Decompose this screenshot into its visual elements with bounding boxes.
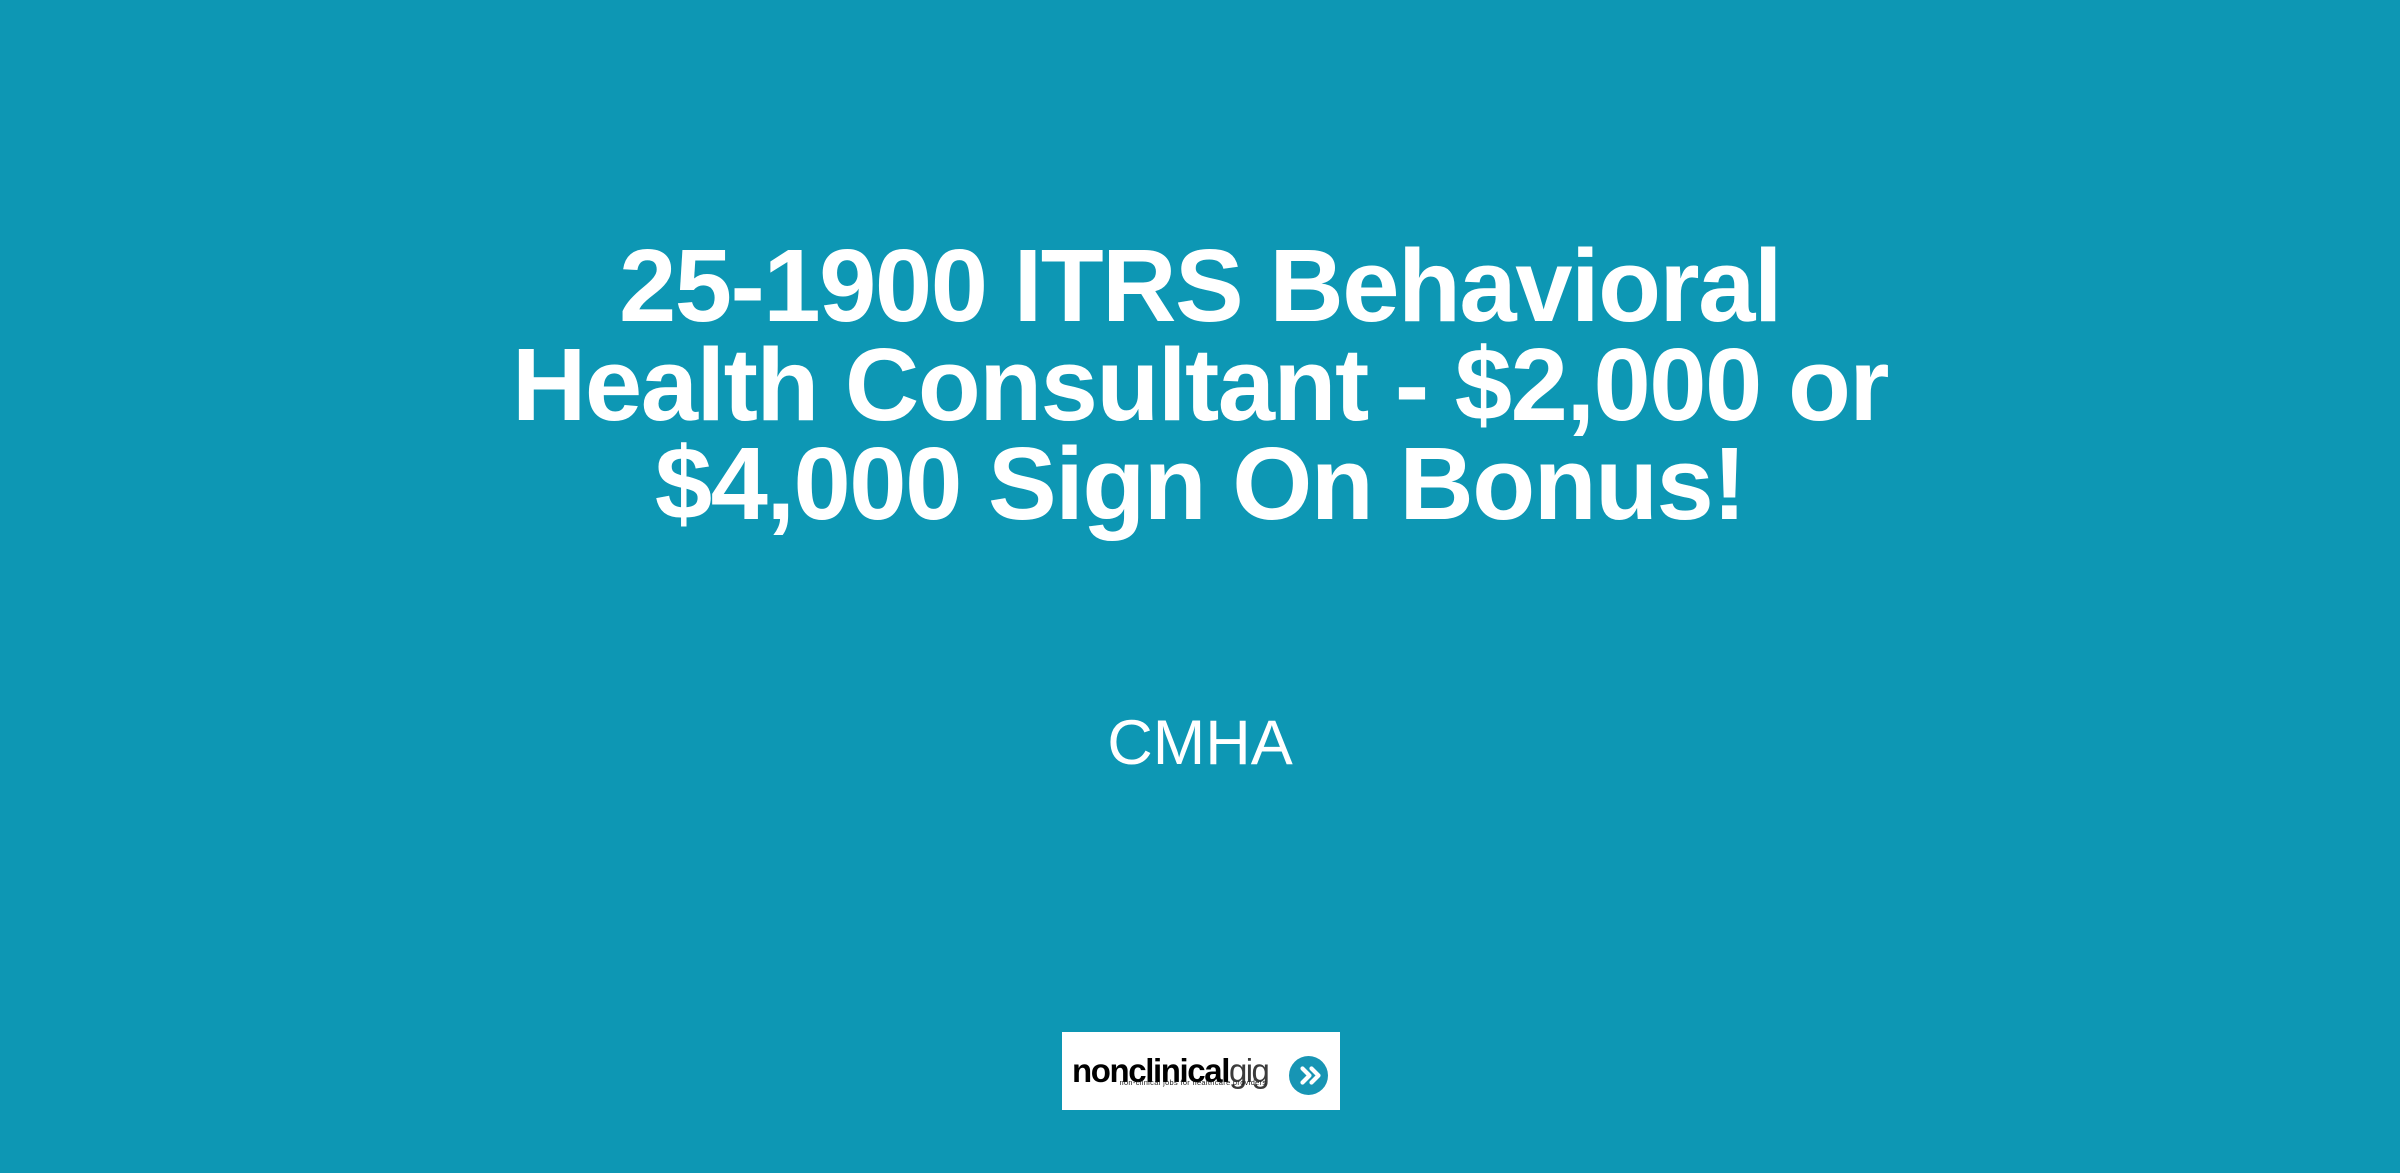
headline-line-3: $4,000 Sign On Bonus! [0,434,2400,533]
logo-tagline: non-clinical jobs for healthcare provide… [1098,1078,1288,1087]
employer-subtitle: CMHA [0,708,2400,778]
nonclinicalgig-logo[interactable]: nonclinicalgig non-clinical jobs for hea… [1062,1032,1340,1110]
double-chevron-right-icon [1289,1056,1328,1095]
page-title: 25-1900 ITRS Behavioral Health Consultan… [0,236,2400,533]
logo-inner: nonclinicalgig non-clinical jobs for hea… [1062,1032,1340,1110]
headline-line-1: 25-1900 ITRS Behavioral [0,236,2400,335]
headline-line-2: Health Consultant - $2,000 or [0,335,2400,434]
job-posting-card: 25-1900 ITRS Behavioral Health Consultan… [0,0,2400,1173]
